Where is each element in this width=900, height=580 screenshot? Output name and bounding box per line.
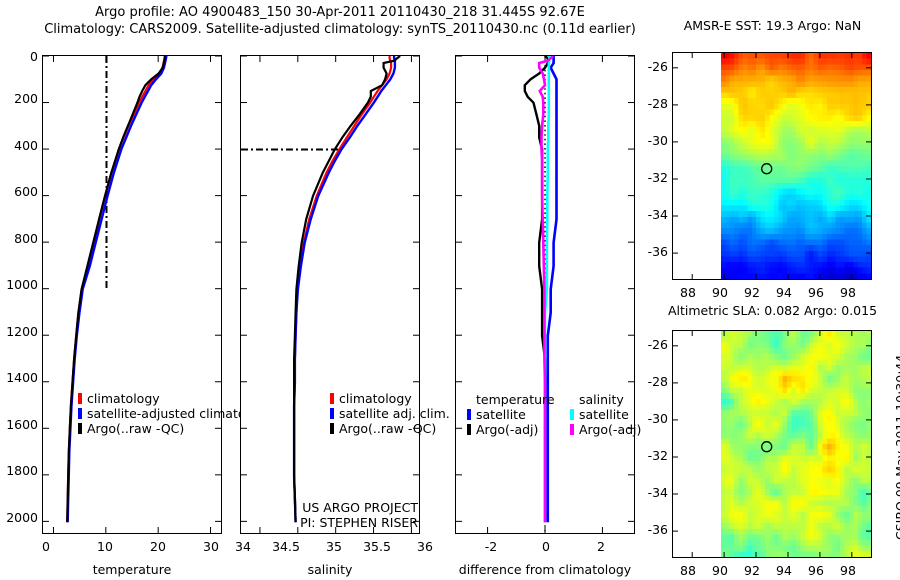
difference-xtick-2: 2 — [590, 539, 612, 554]
legend-item-salinity-satellite: satellite — [570, 407, 641, 422]
salinity-profile-panel — [240, 55, 420, 534]
depth-tick-600: 600 — [0, 184, 38, 199]
sst-map-raster — [673, 53, 871, 279]
sst-xtick-96: 96 — [806, 285, 826, 300]
sst-ytick--32: -32 — [640, 170, 668, 185]
legend-swatch-argo — [78, 423, 82, 434]
project-credit: US ARGO PROJECT PI: STEPHEN RISER — [250, 500, 418, 530]
sla-xtick-88: 88 — [678, 563, 698, 578]
legend-label-climatology: climatology — [87, 391, 160, 406]
legend-item-climatology: climatology — [330, 391, 450, 406]
legend-swatch-salinity-argo — [570, 424, 574, 435]
legend-swatch-satellite — [330, 408, 334, 419]
credit-line-1: US ARGO PROJECT — [250, 500, 418, 515]
sla-ytick--32: -32 — [640, 448, 668, 463]
sla-ytick--34: -34 — [640, 485, 668, 500]
sst-ytick--30: -30 — [640, 133, 668, 148]
page-title: Argo profile: AO 4900483_150 30-Apr-2011… — [0, 4, 680, 38]
depth-tick-2000: 2000 — [0, 510, 38, 525]
salinity-xtick-34: 34 — [233, 539, 253, 554]
sst-xtick-92: 92 — [742, 285, 762, 300]
salinity-climatology-curve — [294, 56, 391, 522]
legend-swatch-climatology — [78, 393, 82, 404]
salinity-xtick-34-5: 34.5 — [271, 539, 301, 554]
temperature-xtick-20: 20 — [150, 539, 166, 554]
legend-label-argo: Argo(..raw -QC) — [339, 421, 436, 436]
depth-tick-400: 400 — [0, 138, 38, 153]
salinity-axis-label: salinity — [240, 562, 420, 577]
temperature-axis-label: temperature — [42, 562, 222, 577]
depth-tick-800: 800 — [0, 231, 38, 246]
timestamp-label: CSIRO 09-May-2011 10:30:44 — [893, 355, 900, 540]
salinity-plot-area — [241, 56, 419, 533]
sst-map-title: AMSR-E SST: 19.3 Argo: NaN — [660, 18, 885, 33]
sst-map-panel — [672, 52, 872, 280]
sla-xtick-94: 94 — [774, 563, 794, 578]
sla-ytick--30: -30 — [640, 411, 668, 426]
legend-label-climatology: climatology — [339, 391, 412, 406]
difference-profile-panel — [455, 55, 635, 534]
difference-xtick-0: 0 — [535, 539, 557, 554]
legend-item-temperature-argo: Argo(-adj) — [467, 422, 555, 437]
sla-ytick--28: -28 — [640, 374, 668, 389]
temperature-argo-curve — [67, 56, 165, 522]
legend-header-temperature: temperature — [467, 392, 555, 407]
sla-xtick-90: 90 — [710, 563, 730, 578]
difference-axis-label: difference from climatology — [445, 562, 645, 577]
depth-tick-1800: 1800 — [0, 463, 38, 478]
salinity-legend: climatology satellite adj. clim. Argo(..… — [330, 391, 450, 436]
sla-xtick-96: 96 — [806, 563, 826, 578]
temperature-xtick-30: 30 — [203, 539, 219, 554]
temperature-profile-panel — [42, 55, 222, 534]
temperature-xtick-0: 0 — [38, 539, 54, 554]
legend-swatch-climatology — [330, 393, 334, 404]
legend-item-argo: Argo(..raw -QC) — [330, 421, 450, 436]
sst-ytick--28: -28 — [640, 96, 668, 111]
sst-xtick-94: 94 — [774, 285, 794, 300]
salinity-xtick-35-5: 35.5 — [362, 539, 392, 554]
sst-xtick-98: 98 — [838, 285, 858, 300]
depth-tick-0: 0 — [0, 49, 38, 64]
legend-item-salinity-argo: Argo(-adj) — [570, 422, 641, 437]
depth-tick-1000: 1000 — [0, 277, 38, 292]
salinity-xtick-35: 35 — [324, 539, 344, 554]
difference-legend-salinity: salinity satellite Argo(-adj) — [570, 392, 641, 437]
legend-swatch-temperature-argo — [467, 424, 471, 435]
legend-label-argo: Argo(..raw -QC) — [87, 421, 184, 436]
legend-swatch-argo — [330, 423, 334, 434]
salinity-argo-curve — [294, 56, 400, 522]
sst-xtick-90: 90 — [710, 285, 730, 300]
legend-item-satellite: satellite adj. clim. — [330, 406, 450, 421]
salinity-satellite-curve — [294, 56, 395, 522]
difference-plot-area — [456, 56, 634, 533]
depth-tick-1200: 1200 — [0, 324, 38, 339]
sla-ytick--26: -26 — [640, 337, 668, 352]
sla-map-title: Altimetric SLA: 0.082 Argo: 0.015 — [660, 303, 885, 318]
sla-map-panel — [672, 330, 872, 558]
sla-xtick-98: 98 — [838, 563, 858, 578]
title-line-1: Argo profile: AO 4900483_150 30-Apr-2011… — [0, 4, 680, 21]
legend-swatch-salinity-satellite — [570, 409, 574, 420]
sla-ytick--36: -36 — [640, 522, 668, 537]
legend-header-salinity: salinity — [570, 392, 641, 407]
temperature-plot-area — [43, 56, 221, 533]
depth-tick-200: 200 — [0, 91, 38, 106]
sla-map-raster — [673, 331, 871, 557]
legend-item-temperature-satellite: satellite — [467, 407, 555, 422]
depth-tick-1600: 1600 — [0, 417, 38, 432]
sla-xtick-92: 92 — [742, 563, 762, 578]
difference-xtick-neg2: -2 — [480, 539, 502, 554]
difference-legend-temperature: temperature satellite Argo(-adj) — [467, 392, 555, 437]
temperature-xtick-10: 10 — [97, 539, 113, 554]
sst-xtick-88: 88 — [678, 285, 698, 300]
legend-swatch-satellite — [78, 408, 82, 419]
salinity-xtick-36: 36 — [415, 539, 435, 554]
sst-ytick--36: -36 — [640, 244, 668, 259]
depth-tick-1400: 1400 — [0, 370, 38, 385]
legend-swatch-temperature-satellite — [467, 409, 471, 420]
title-line-2: Climatology: CARS2009. Satellite-adjuste… — [0, 21, 680, 38]
sst-ytick--26: -26 — [640, 59, 668, 74]
sst-ytick--34: -34 — [640, 207, 668, 222]
legend-label-satellite: satellite adj. clim. — [339, 406, 450, 421]
credit-line-2: PI: STEPHEN RISER — [250, 515, 418, 530]
